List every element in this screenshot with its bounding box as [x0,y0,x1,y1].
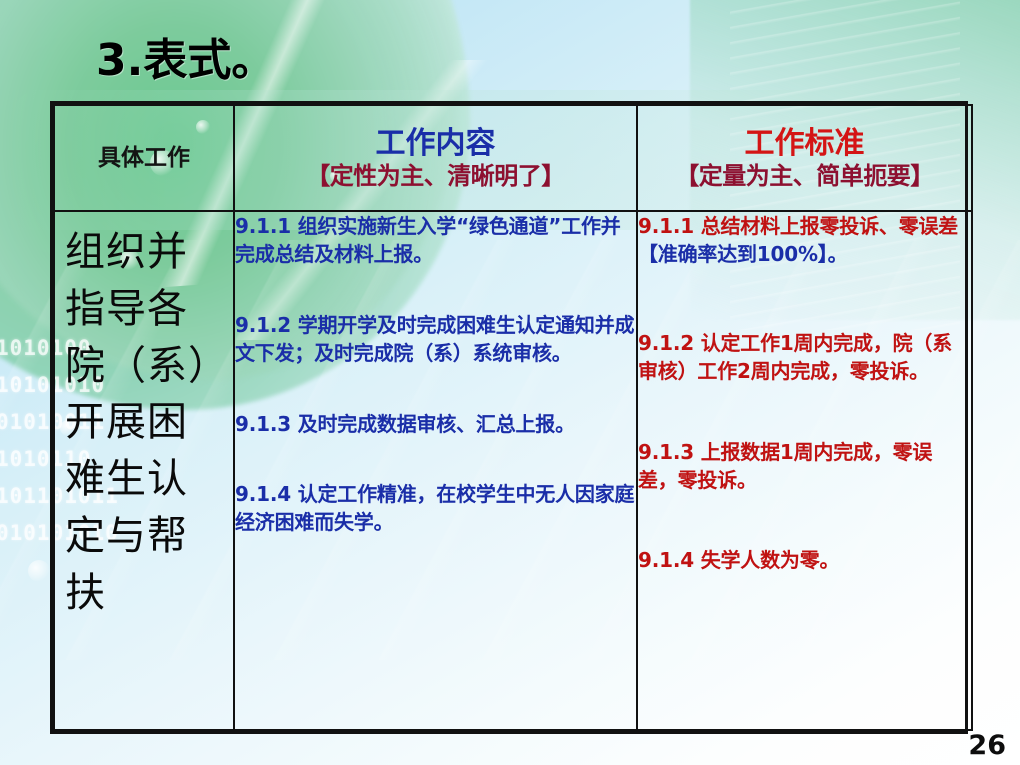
content-item: 9.1.2 学期开学及时完成困难生认定通知并成文下发；及时完成院（系）系统审核。 [235,311,636,368]
standard-item: 9.1.2 认定工作1周内完成，院（系审核）工作2周内完成，零投诉。 [638,329,971,386]
header-cell-content: 工作内容 【定性为主、清晰明了】 [234,105,637,211]
standard-item: 9.1.1 总结材料上报零投诉、零误差【准确率达到100%】。 [638,212,971,269]
header-label-standard: 工作标准 [638,127,971,161]
header-subtitle-content: 【定性为主、清晰明了】 [235,162,636,190]
header-cell-standard: 工作标准 【定量为主、简单扼要】 [637,105,972,211]
header-label-work: 具体工作 [55,144,233,172]
standard-item: 9.1.3 上报数据1周内完成，零误差，零投诉。 [638,438,971,495]
standard-item-red: 9.1.3 上报数据1周内完成，零误差，零投诉。 [638,440,932,492]
standard-item-red: 9.1.4 失学人数为零。 [638,548,839,572]
header-subtitle-standard: 【定量为主、简单扼要】 [638,162,971,190]
table-body-row: 组织并指导各院（系）开展困难生认定与帮扶 9.1.1 组织实施新生入学“绿色通道… [54,211,972,730]
work-item-text: 组织并指导各院（系）开展困难生认定与帮扶 [55,212,233,622]
header-label-content: 工作内容 [235,127,636,161]
bokeh-dot [28,560,50,582]
standard-item-red: 9.1.1 总结材料上报零投诉、零误差 [638,214,958,238]
header-cell-work: 具体工作 [54,105,234,211]
page-number: 26 [968,730,1006,761]
table-header-row: 具体工作 工作内容 【定性为主、清晰明了】 工作标准 【定量为主、简单扼要】 [54,105,972,211]
slide-canvas: 1010100 10101010 01010011 1010110 101101… [0,0,1020,765]
work-standards-table: 具体工作 工作内容 【定性为主、清晰明了】 工作标准 【定量为主、简单扼要】 组… [50,101,968,734]
slide-title: 3.表式。 [96,24,275,88]
standard-item-blue: 【准确率达到100%】。 [638,242,847,266]
cell-work-content: 9.1.1 组织实施新生入学“绿色通道”工作并完成总结及材料上报。 9.1.2 … [234,211,637,730]
content-item: 9.1.1 组织实施新生入学“绿色通道”工作并完成总结及材料上报。 [235,212,636,269]
standard-item-red: 9.1.2 认定工作1周内完成，院（系审核）工作2周内完成，零投诉。 [638,331,952,383]
cell-work-item: 组织并指导各院（系）开展困难生认定与帮扶 [54,211,234,730]
standard-item: 9.1.4 失学人数为零。 [638,546,971,574]
content-item: 9.1.3 及时完成数据审核、汇总上报。 [235,410,636,438]
cell-work-standard: 9.1.1 总结材料上报零投诉、零误差【准确率达到100%】。 9.1.2 认定… [637,211,972,730]
content-item: 9.1.4 认定工作精准，在校学生中无人因家庭经济困难而失学。 [235,480,636,537]
